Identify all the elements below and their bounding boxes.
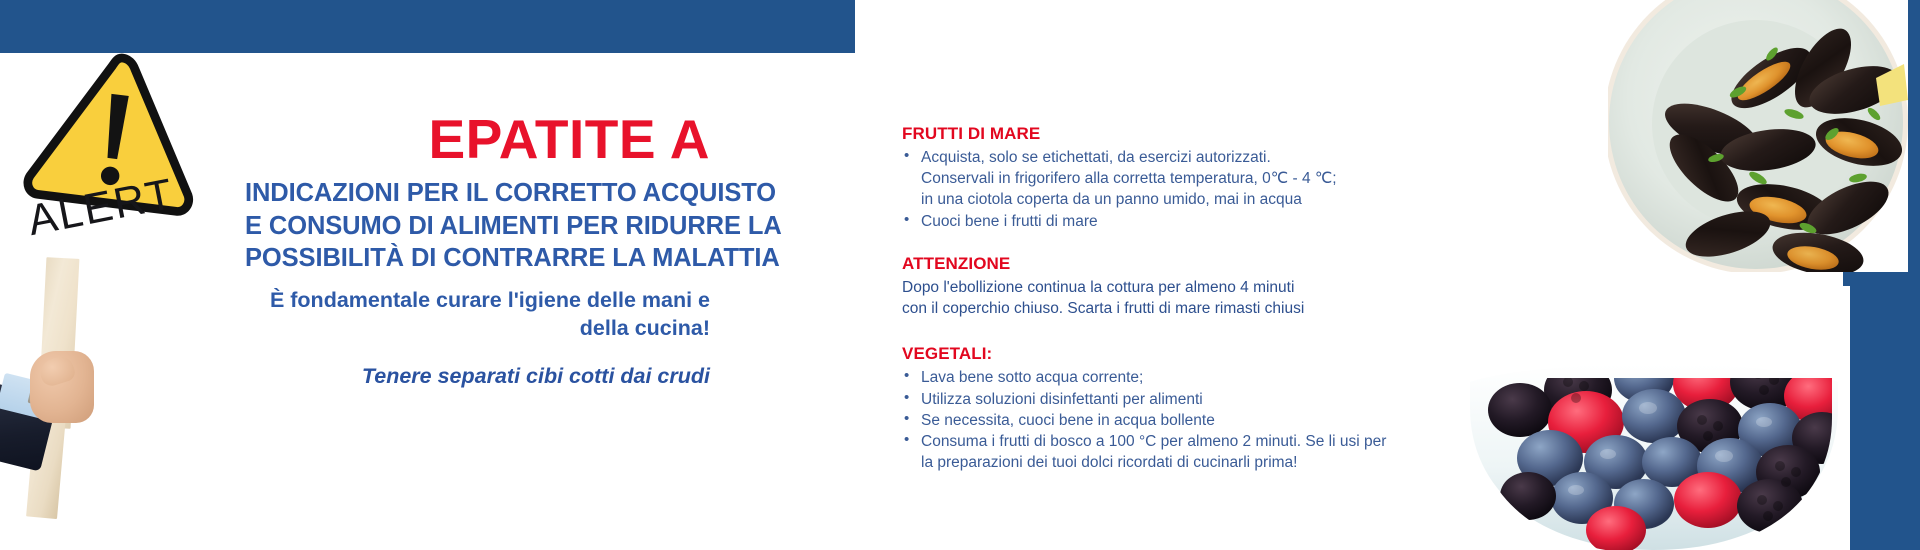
list-item: Consuma i frutti di bosco a 100 °C per a… [902, 431, 1462, 473]
list-item-line: Se necessita, cuoci bene in acqua bollen… [921, 410, 1462, 431]
tagline-line-2: della cucina! [245, 315, 710, 343]
hand-holding-sign-illustration [0, 258, 175, 550]
list-item-line: Conservali in frigorifero alla corretta … [921, 168, 1462, 189]
page-title: EPATITE A [245, 112, 710, 167]
section-heading-vegetali: VEGETALI: [902, 344, 1462, 364]
subtitle-line-2: E CONSUMO DI ALIMENTI PER RIDURRE LA [245, 210, 710, 243]
list-item-line: Lava bene sotto acqua corrente; [921, 367, 1462, 388]
subtitle-line-3: POSSIBILITÀ DI CONTRARRE LA MALATTIA [245, 242, 710, 275]
list-item-line: Cuoci bene i frutti di mare [921, 211, 1462, 232]
bullet-list-vegetali: Lava bene sotto acqua corrente; Utilizza… [902, 367, 1462, 473]
list-item: Utilizza soluzioni disinfettanti per ali… [902, 389, 1462, 410]
top-blue-band [0, 0, 855, 53]
list-item-line: Acquista, solo se etichettati, da eserci… [921, 147, 1462, 168]
italic-note: Tenere separati cibi cotti dai crudi [245, 363, 710, 391]
bullet-list-frutti-di-mare: Acquista, solo se etichettati, da eserci… [902, 147, 1462, 232]
list-item-line: Utilizza soluzioni disinfettanti per ali… [921, 389, 1462, 410]
list-item: Lava bene sotto acqua corrente; [902, 367, 1462, 388]
tagline-line-1: È fondamentale curare l'igiene delle man… [245, 287, 710, 315]
list-item-line: in una ciotola coperta da un panno umido… [921, 189, 1462, 210]
section-heading-frutti-di-mare: FRUTTI DI MARE [902, 124, 1462, 144]
tagline-block: È fondamentale curare l'igiene delle man… [245, 287, 710, 343]
alert-sign-illustration: ALERT [18, 50, 233, 290]
list-item: Se necessita, cuoci bene in acqua bollen… [902, 410, 1462, 431]
mussels-photo [1608, 0, 1908, 272]
guidelines-content: FRUTTI DI MARE Acquista, solo se etichet… [902, 124, 1462, 474]
paragraph-line: Dopo l'ebollizione continua la cottura p… [902, 277, 1462, 298]
list-item: Cuoci bene i frutti di mare [902, 211, 1462, 232]
berries-photo [1458, 286, 1850, 550]
list-item-line: Consuma i frutti di bosco a 100 °C per a… [921, 431, 1462, 452]
paragraph-attenzione: Dopo l'ebollizione continua la cottura p… [902, 277, 1462, 319]
subtitle-line-1: INDICAZIONI PER IL CORRETTO ACQUISTO [245, 177, 710, 210]
subtitle-block: INDICAZIONI PER IL CORRETTO ACQUISTO E C… [245, 177, 710, 275]
headline-block: EPATITE A INDICAZIONI PER IL CORRETTO AC… [245, 112, 710, 391]
paragraph-line: con il coperchio chiuso. Scarta i frutti… [902, 298, 1462, 319]
poster-canvas: ALERT EPATITE A INDICAZIONI PER IL CORRE… [0, 0, 1920, 550]
list-item: Acquista, solo se etichettati, da eserci… [902, 147, 1462, 211]
list-item-line: la preparazioni dei tuoi dolci ricordati… [921, 452, 1462, 473]
section-heading-attenzione: ATTENZIONE [902, 254, 1462, 274]
